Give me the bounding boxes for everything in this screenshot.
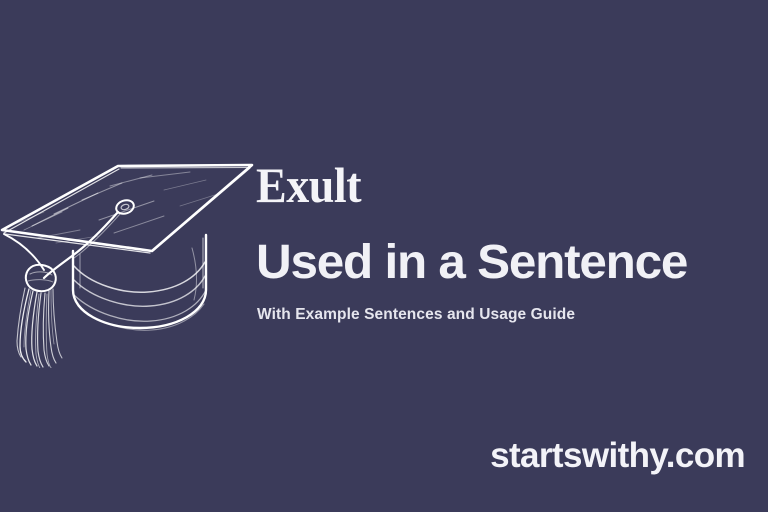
page-subtitle: With Example Sentences and Usage Guide (257, 306, 575, 324)
graduation-cap-sketch-icon (0, 138, 264, 368)
share-card: Exult Used in a Sentence With Example Se… (0, 0, 768, 512)
text-block: Exult Used in a Sentence With Example Se… (256, 160, 756, 212)
word-mark: Exult (256, 160, 716, 212)
page-title: Used in a Sentence (256, 238, 687, 288)
brand-domain: startswithy.com (490, 436, 745, 476)
